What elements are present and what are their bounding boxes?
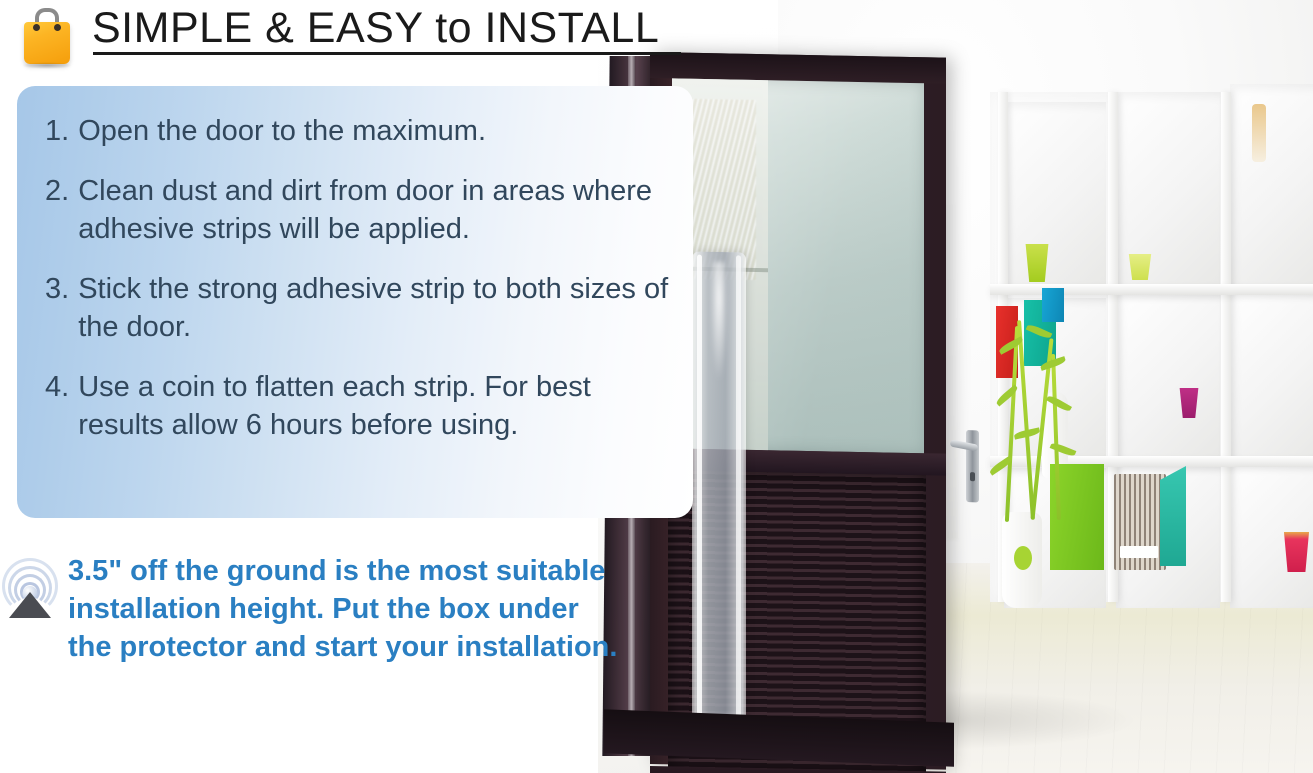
page-title: SIMPLE & EASY to INSTALL [92,4,659,53]
note-line: the protector and start your installatio… [68,628,708,666]
step-text: Clean dust and dirt from door in areas w… [78,172,673,248]
step-text: Open the door to the maximum. [78,112,486,150]
step-number: 2. [45,172,69,248]
step-number: 1. [45,112,69,150]
steps-panel: 1. Open the door to the maximum. 2. Clea… [17,86,693,518]
note-line: installation height. Put the box under [68,590,708,628]
white-cube-shelving [990,92,1313,602]
header: SIMPLE & EASY to INSTALL [0,0,700,70]
title-underline [93,52,681,55]
reed-diffuser [1252,104,1266,162]
note-text: 3.5" off the ground is the most suitable… [68,552,708,666]
signal-broadcast-icon [4,560,56,616]
shelf-divider [1221,92,1231,602]
bag-rivet [33,24,40,31]
list-item: 1. Open the door to the maximum. [45,112,673,150]
bag-body [24,22,70,64]
magazine-file [1160,466,1186,566]
shopping-bag-icon [18,6,76,66]
protector-highlight [710,262,728,382]
list-item: 2. Clean dust and dirt from door in area… [45,172,673,248]
bag-shadow [22,62,72,69]
step-number: 3. [45,270,69,346]
product-infographic-page: SIMPLE & EASY to INSTALL 1. Open the doo… [0,0,1313,773]
door-keyhole [970,472,975,481]
shelf-cubby [1116,292,1220,458]
steps-list: 1. Open the door to the maximum. 2. Clea… [45,112,673,466]
instructions-pane: SIMPLE & EASY to INSTALL 1. Open the doo… [0,0,700,773]
blue-box [1042,288,1064,322]
installation-height-note: 3.5" off the ground is the most suitable… [0,552,710,682]
step-text: Use a coin to flatten each strip. For be… [78,368,673,444]
list-item: 4. Use a coin to flatten each strip. For… [45,368,673,444]
step-text: Stick the strong adhesive strip to both … [78,270,673,346]
magazine-file [1114,474,1166,570]
note-line: 3.5" off the ground is the most suitable [68,552,708,590]
glass-sheen [768,80,924,453]
bag-rivet [54,24,61,31]
shelf-cubby [1004,102,1106,288]
step-number: 4. [45,368,69,444]
shelf-cubby [1230,288,1313,458]
signal-tower-base [9,592,51,618]
list-item: 3. Stick the strong adhesive strip to bo… [45,270,673,346]
shelf-board [990,284,1313,295]
door-handle-plate [966,430,979,502]
shelf-cubby [1230,84,1313,286]
